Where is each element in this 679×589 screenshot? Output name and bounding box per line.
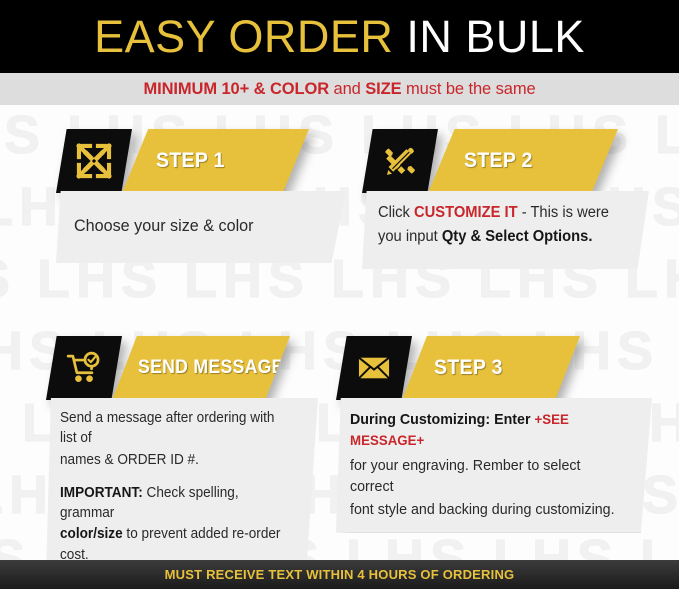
- step-label-box-step1: STEP 1: [122, 129, 309, 193]
- step-body-line: names & ORDER ID #.: [60, 450, 288, 470]
- step-body-line: font style and backing during customizin…: [350, 499, 620, 520]
- step-body-send-message: Send a message after ordering with list …: [46, 398, 318, 577]
- subtitle-light-a: and: [329, 80, 365, 98]
- step-body-line: you input Qty & Select Options.: [378, 226, 615, 248]
- subtitle-banner: MINIMUM 10+ & COLOR and SIZE must be the…: [0, 73, 679, 105]
- text-span: Choose your size & color: [74, 216, 254, 235]
- step-label-send-message: SEND MESSAGE!: [138, 357, 290, 379]
- step-header-step2: STEP 2: [362, 129, 649, 193]
- page-title-gold: EASY ORDER: [94, 11, 393, 62]
- step-body-step2: Click CUSTOMIZE IT - This is were you in…: [362, 191, 649, 269]
- text-span: you input: [378, 228, 442, 245]
- step-label-box-send-message: SEND MESSAGE!: [112, 336, 290, 400]
- step-header-send-message: SEND MESSAGE!: [46, 336, 318, 400]
- text-span-bold: color/size: [60, 526, 123, 542]
- text-span-highlight: CUSTOMIZE IT: [414, 204, 518, 221]
- text-span: font style and backing during customizin…: [350, 501, 615, 518]
- step-body-step3: During Customizing: Enter +SEE MESSAGE+ …: [336, 398, 652, 532]
- step-body-line: for your engraving. Rember to select cor…: [350, 455, 620, 498]
- step-card-step2: STEP 2 Click CUSTOMIZE IT - This is were…: [362, 129, 649, 269]
- text-span: names & ORDER ID #.: [60, 452, 199, 468]
- page-title-white: IN BULK: [406, 11, 585, 62]
- step-body-line: color/size to prevent added re-order cos…: [60, 524, 288, 565]
- text-span: Send a message after ordering with list …: [60, 410, 274, 446]
- text-span: - This is were: [518, 204, 609, 221]
- step-card-send-message: SEND MESSAGE! Send a message after order…: [46, 336, 318, 577]
- header-banner: EASY ORDER IN BULK: [0, 0, 679, 73]
- expand-arrows-icon: [56, 129, 132, 193]
- text-span-bold: IMPORTANT:: [60, 485, 143, 501]
- text-span-bold: Qty & Select Options.: [442, 228, 593, 245]
- step-label-box-step2: STEP 2: [428, 129, 618, 193]
- subtitle-text: MINIMUM 10+ & COLOR and SIZE must be the…: [143, 80, 535, 99]
- footer-banner: MUST RECEIVE TEXT WITHIN 4 HOURS OF ORDE…: [0, 560, 679, 589]
- step-header-step1: STEP 1: [56, 129, 346, 193]
- wrench-pencil-icon: [362, 129, 438, 193]
- text-span-bold: During Customizing: Enter: [350, 411, 534, 428]
- envelope-icon: [336, 336, 412, 400]
- footer-text: MUST RECEIVE TEXT WITHIN 4 HOURS OF ORDE…: [165, 567, 515, 582]
- text-span: Click: [378, 204, 414, 221]
- step-card-step1: STEP 1 Choose your size & color: [56, 129, 346, 263]
- step-card-step3: STEP 3 During Customizing: Enter +SEE ME…: [336, 336, 652, 532]
- subtitle-bold-a: MINIMUM 10+ & COLOR: [143, 80, 329, 98]
- step-body-step1: Choose your size & color: [56, 191, 346, 263]
- bulk-order-infographic: LHS LHS LHS LHS LHS LHS LHS LHS LHS LHS …: [0, 0, 679, 589]
- step-body-line: Click CUSTOMIZE IT - This is were: [378, 202, 615, 224]
- step-header-step3: STEP 3: [336, 336, 652, 400]
- step-body-line: Choose your size & color: [74, 214, 254, 238]
- step-label-box-step3: STEP 3: [402, 336, 580, 400]
- step-body-line: IMPORTANT: Check spelling, grammar: [60, 483, 288, 524]
- step-label-step2: STEP 2: [464, 149, 533, 173]
- step-body-line: During Customizing: Enter +SEE MESSAGE+: [350, 409, 620, 452]
- step-body-line: Send a message after ordering with list …: [60, 408, 288, 449]
- text-span: for your engraving. Rember to select cor…: [350, 457, 580, 495]
- step-label-step3: STEP 3: [434, 356, 503, 380]
- page-title: EASY ORDER IN BULK: [94, 14, 585, 59]
- subtitle-light-b: must be the same: [402, 80, 536, 98]
- subtitle-bold-b: SIZE: [365, 80, 401, 98]
- cart-check-icon: [46, 336, 122, 400]
- step-label-step1: STEP 1: [156, 149, 225, 173]
